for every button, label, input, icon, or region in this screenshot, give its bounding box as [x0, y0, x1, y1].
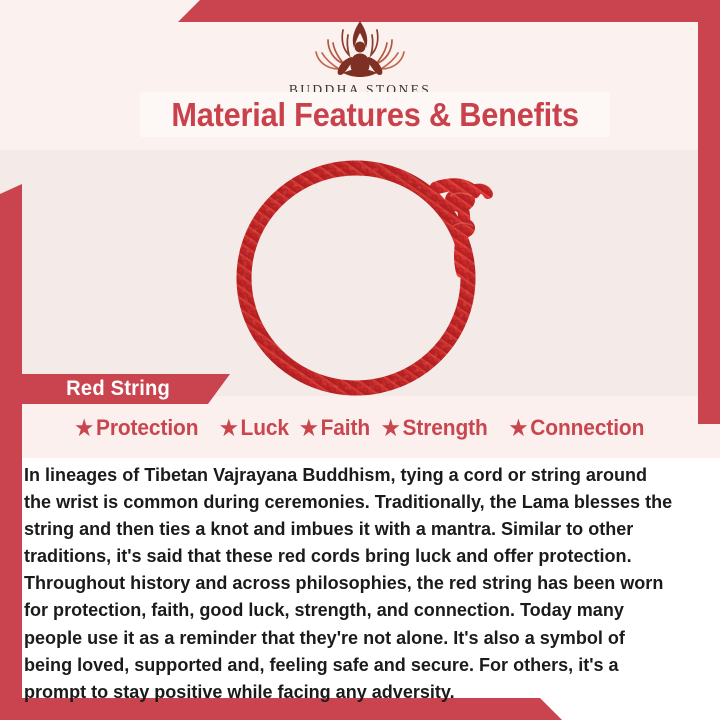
product-info-poster: BUDDHA STONES Material Features & Benefi… [0, 0, 720, 720]
brand-logo: BUDDHA STONES [0, 18, 720, 98]
product-name-label: Red String [66, 377, 170, 401]
benefit-label: Strength [402, 415, 487, 441]
star-icon: ★ [220, 418, 238, 439]
benefit-label: Luck [240, 415, 288, 441]
decorative-frame-left-upper [0, 184, 22, 396]
benefit-label: Connection [530, 415, 644, 441]
benefit-label: Protection [96, 415, 198, 441]
benefit-item-luck: ★ Luck [220, 415, 289, 441]
product-name-tab: Red String [22, 374, 230, 404]
star-icon: ★ [381, 418, 399, 439]
benefit-item-strength: ★ Strength [381, 415, 487, 441]
product-image-red-string-bracelet [222, 152, 502, 400]
page-title: Material Features & Benefits [171, 96, 579, 134]
lotus-meditation-icon [296, 18, 424, 80]
benefit-item-protection: ★ Protection [75, 415, 198, 441]
page-title-banner: Material Features & Benefits [140, 92, 610, 137]
benefit-item-faith: ★ Faith [299, 415, 369, 441]
product-description: In lineages of Tibetan Vajrayana Buddhis… [24, 461, 676, 705]
benefit-item-connection: ★ Connection [510, 415, 645, 441]
star-icon: ★ [510, 418, 528, 439]
star-icon: ★ [299, 418, 317, 439]
star-icon: ★ [75, 418, 93, 439]
braided-bracelet-icon [222, 152, 502, 400]
benefits-row: ★ Protection ★ Luck ★ Faith ★ Strength ★… [0, 415, 720, 441]
decorative-frame-left-lower [0, 396, 22, 720]
benefit-label: Faith [320, 415, 369, 441]
